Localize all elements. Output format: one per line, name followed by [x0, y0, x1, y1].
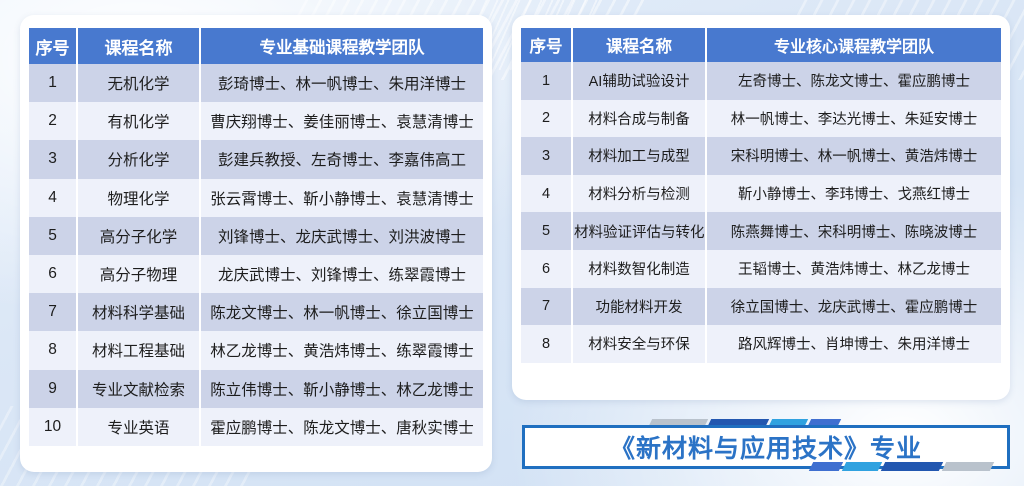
stripe-cyan	[842, 462, 882, 471]
cell-index: 5	[29, 217, 78, 255]
table-row: 4 物理化学 张云霄博士、靳小静博士、袁慧清博士	[29, 179, 483, 217]
cell-course: 材料科学基础	[78, 293, 201, 331]
cell-index: 2	[29, 102, 78, 140]
cell-course: 材料合成与制备	[573, 100, 707, 138]
cell-team: 陈燕舞博士、宋科明博士、陈晓波博士	[707, 212, 1001, 250]
cell-index: 7	[29, 293, 78, 331]
major-title-banner: 《新材料与应用技术》专业	[522, 419, 1010, 471]
column-header-course: 课程名称	[78, 28, 201, 64]
page-background: 序号 课程名称 专业基础课程教学团队 1 无机化学 彭琦博士、林一帆博士、朱用洋…	[0, 0, 1024, 486]
cell-index: 6	[29, 255, 78, 293]
cell-team: 林一帆博士、李达光博士、朱延安博士	[707, 100, 1001, 138]
table-header-row: 序号 课程名称 专业基础课程教学团队	[29, 28, 483, 64]
cell-team: 宋科明博士、林一帆博士、黄浩炜博士	[707, 137, 1001, 175]
cell-index: 8	[29, 331, 78, 369]
table-row: 8 材料安全与环保 路风辉博士、肖坤博士、朱用洋博士	[521, 325, 1001, 363]
banner-title-text: 《新材料与应用技术》专业	[610, 429, 922, 465]
cell-team: 霍应鹏博士、陈龙文博士、唐秋实博士	[201, 408, 483, 446]
cell-index: 6	[521, 250, 573, 288]
cell-course: 高分子化学	[78, 217, 201, 255]
stripe-navy	[881, 462, 943, 471]
cell-index: 3	[29, 140, 78, 178]
table-header-row: 序号 课程名称 专业核心课程教学团队	[521, 28, 1001, 62]
cell-index: 4	[521, 175, 573, 213]
table-row: 10 专业英语 霍应鹏博士、陈龙文博士、唐秋实博士	[29, 408, 483, 446]
cell-index: 3	[521, 137, 573, 175]
table-row: 4 材料分析与检测 靳小静博士、李玮博士、戈燕红博士	[521, 175, 1001, 213]
cell-index: 4	[29, 179, 78, 217]
cell-index: 10	[29, 408, 78, 446]
cell-team: 靳小静博士、李玮博士、戈燕红博士	[707, 175, 1001, 213]
column-header-team: 专业基础课程教学团队	[201, 28, 483, 64]
cell-index: 5	[521, 212, 573, 250]
column-header-index: 序号	[521, 28, 573, 62]
table-row: 1 无机化学 彭琦博士、林一帆博士、朱用洋博士	[29, 64, 483, 102]
cell-team: 曹庆翔博士、姜佳丽博士、袁慧清博士	[201, 102, 483, 140]
table-row: 7 材料科学基础 陈龙文博士、林一帆博士、徐立国博士	[29, 293, 483, 331]
cell-index: 2	[521, 100, 573, 138]
table-row: 5 材料验证评估与转化 陈燕舞博士、宋科明博士、陈晓波博士	[521, 212, 1001, 250]
table-header: 序号 课程名称 专业核心课程教学团队	[521, 28, 1001, 62]
cell-team: 刘锋博士、龙庆武博士、刘洪波博士	[201, 217, 483, 255]
cell-team: 陈龙文博士、林一帆博士、徐立国博士	[201, 293, 483, 331]
table-row: 3 分析化学 彭建兵教授、左奇博士、李嘉伟高工	[29, 140, 483, 178]
column-header-team: 专业核心课程教学团队	[707, 28, 1001, 62]
cell-course: 材料加工与成型	[573, 137, 707, 175]
cell-course: 材料验证评估与转化	[573, 212, 707, 250]
cell-team: 林乙龙博士、黄浩炜博士、练翠霞博士	[201, 331, 483, 369]
cell-course: 专业文献检索	[78, 370, 201, 408]
table-row: 7 功能材料开发 徐立国博士、龙庆武博士、霍应鹏博士	[521, 288, 1001, 326]
cell-team: 彭琦博士、林一帆博士、朱用洋博士	[201, 64, 483, 102]
banner-stripe-decoration-bottom	[809, 462, 994, 471]
cell-team: 王韬博士、黄浩炜博士、林乙龙博士	[707, 250, 1001, 288]
core-courses-card: 序号 课程名称 专业核心课程教学团队 1 AI辅助试验设计 左奇博士、陈龙文博士…	[512, 15, 1010, 400]
cell-course: 功能材料开发	[573, 288, 707, 326]
cell-team: 徐立国博士、龙庆武博士、霍应鹏博士	[707, 288, 1001, 326]
cell-course: 有机化学	[78, 102, 201, 140]
column-header-course: 课程名称	[573, 28, 707, 62]
cell-index: 1	[521, 62, 573, 100]
basic-courses-card: 序号 课程名称 专业基础课程教学团队 1 无机化学 彭琦博士、林一帆博士、朱用洋…	[20, 15, 492, 472]
cell-team: 彭建兵教授、左奇博士、李嘉伟高工	[201, 140, 483, 178]
cell-index: 1	[29, 64, 78, 102]
stripe-blue	[809, 462, 843, 471]
stripe-grey	[942, 462, 994, 471]
cell-team: 左奇博士、陈龙文博士、霍应鹏博士	[707, 62, 1001, 100]
table-row: 2 有机化学 曹庆翔博士、姜佳丽博士、袁慧清博士	[29, 102, 483, 140]
table-row: 6 高分子物理 龙庆武博士、刘锋博士、练翠霞博士	[29, 255, 483, 293]
cell-index: 8	[521, 325, 573, 363]
table-body: 1 AI辅助试验设计 左奇博士、陈龙文博士、霍应鹏博士 2 材料合成与制备 林一…	[521, 62, 1001, 363]
cell-course: AI辅助试验设计	[573, 62, 707, 100]
cell-course: 无机化学	[78, 64, 201, 102]
core-courses-table: 序号 课程名称 专业核心课程教学团队 1 AI辅助试验设计 左奇博士、陈龙文博士…	[521, 28, 1001, 363]
cell-team: 张云霄博士、靳小静博士、袁慧清博士	[201, 179, 483, 217]
cell-course: 材料安全与环保	[573, 325, 707, 363]
table-row: 9 专业文献检索 陈立伟博士、靳小静博士、林乙龙博士	[29, 370, 483, 408]
table-row: 6 材料数智化制造 王韬博士、黄浩炜博士、林乙龙博士	[521, 250, 1001, 288]
cell-course: 物理化学	[78, 179, 201, 217]
table-row: 5 高分子化学 刘锋博士、龙庆武博士、刘洪波博士	[29, 217, 483, 255]
table-body: 1 无机化学 彭琦博士、林一帆博士、朱用洋博士 2 有机化学 曹庆翔博士、姜佳丽…	[29, 64, 483, 446]
cell-index: 9	[29, 370, 78, 408]
table-row: 3 材料加工与成型 宋科明博士、林一帆博士、黄浩炜博士	[521, 137, 1001, 175]
table-row: 1 AI辅助试验设计 左奇博士、陈龙文博士、霍应鹏博士	[521, 62, 1001, 100]
cell-course: 材料数智化制造	[573, 250, 707, 288]
cell-course: 材料分析与检测	[573, 175, 707, 213]
cell-team: 路风辉博士、肖坤博士、朱用洋博士	[707, 325, 1001, 363]
table-row: 8 材料工程基础 林乙龙博士、黄浩炜博士、练翠霞博士	[29, 331, 483, 369]
cell-course: 材料工程基础	[78, 331, 201, 369]
basic-courses-table: 序号 课程名称 专业基础课程教学团队 1 无机化学 彭琦博士、林一帆博士、朱用洋…	[29, 28, 483, 446]
cell-index: 7	[521, 288, 573, 326]
cell-course: 高分子物理	[78, 255, 201, 293]
table-row: 2 材料合成与制备 林一帆博士、李达光博士、朱延安博士	[521, 100, 1001, 138]
table-header: 序号 课程名称 专业基础课程教学团队	[29, 28, 483, 64]
cell-team: 陈立伟博士、靳小静博士、林乙龙博士	[201, 370, 483, 408]
cell-course: 专业英语	[78, 408, 201, 446]
column-header-index: 序号	[29, 28, 78, 64]
cell-course: 分析化学	[78, 140, 201, 178]
cell-team: 龙庆武博士、刘锋博士、练翠霞博士	[201, 255, 483, 293]
